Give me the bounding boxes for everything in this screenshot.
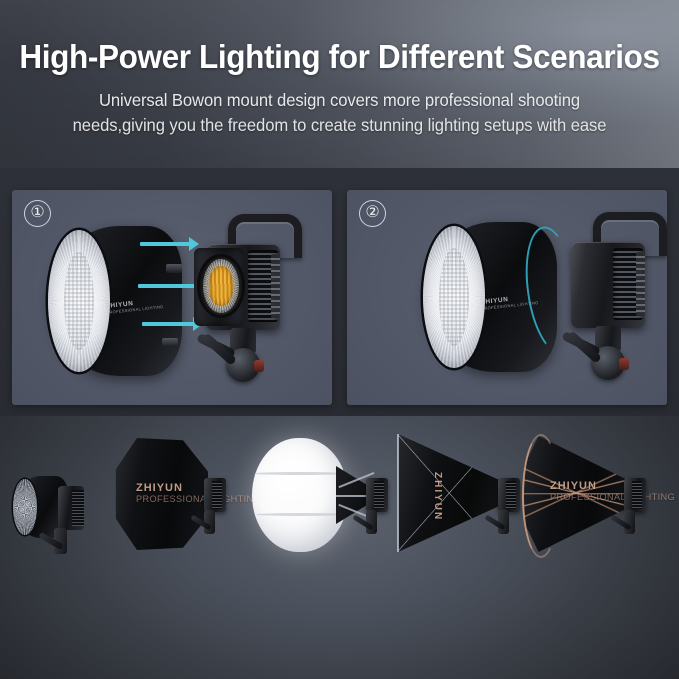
heat-fins-secondary: [271, 254, 280, 318]
subtitle-line-1: Universal Bowon mount design covers more…: [17, 88, 662, 113]
subtitle-line-2: needs,giving you the freedom to create s…: [17, 113, 662, 138]
softbox-ribs: [398, 434, 502, 552]
mount-arrow-top: [140, 242, 190, 246]
step-badge-2: ②: [359, 200, 386, 227]
zhiyun-logo: ZHIYUN: [432, 472, 443, 521]
zhiyun-logo: ZHIYUNPROFESSIONAL LIGHTING: [136, 482, 261, 504]
reflector-dish: [48, 230, 110, 372]
heat-fins: [72, 490, 84, 526]
lantern-globe: [252, 438, 348, 552]
heat-fins: [506, 481, 516, 509]
zhiyun-logo: ZHIYUNPROFESSIONAL LIGHTING: [550, 480, 675, 502]
page-subtitle: Universal Bowon mount design covers more…: [17, 88, 662, 138]
step-badge-1: ①: [24, 200, 51, 227]
lock-lever: [619, 358, 629, 370]
lock-lever: [254, 360, 264, 372]
page-title: High-Power Lighting for Different Scenar…: [15, 38, 663, 76]
reflector-dish: [423, 226, 485, 368]
mount-arrow-middle: [138, 284, 198, 288]
accessories-section: ZHIYUNPROFESSIONAL LIGHTING ZHIYUN: [0, 416, 679, 679]
heat-fins: [632, 481, 642, 509]
step-panel-2: ② ZHIYUNPROFESSIONAL LIGHTING: [347, 190, 667, 405]
step-panels-section: ① ZHIYUNPROFESSIONAL LIGHTING: [0, 168, 679, 416]
heat-fins: [374, 481, 384, 509]
heat-fins-secondary: [636, 252, 645, 316]
softbox-front-edge: [397, 434, 399, 552]
reflector-clip-bottom: [162, 338, 178, 347]
mount-arrow-bottom: [142, 322, 194, 326]
hero-banner: High-Power Lighting for Different Scenar…: [0, 0, 679, 168]
cob-led-chip: [209, 266, 233, 306]
step-panel-1: ① ZHIYUNPROFESSIONAL LIGHTING: [12, 190, 332, 405]
reflector-dish: [13, 479, 37, 535]
product-feature-page: High-Power Lighting for Different Scenar…: [0, 0, 679, 679]
heat-fins: [212, 481, 222, 509]
reflector-clip-top: [166, 264, 182, 273]
